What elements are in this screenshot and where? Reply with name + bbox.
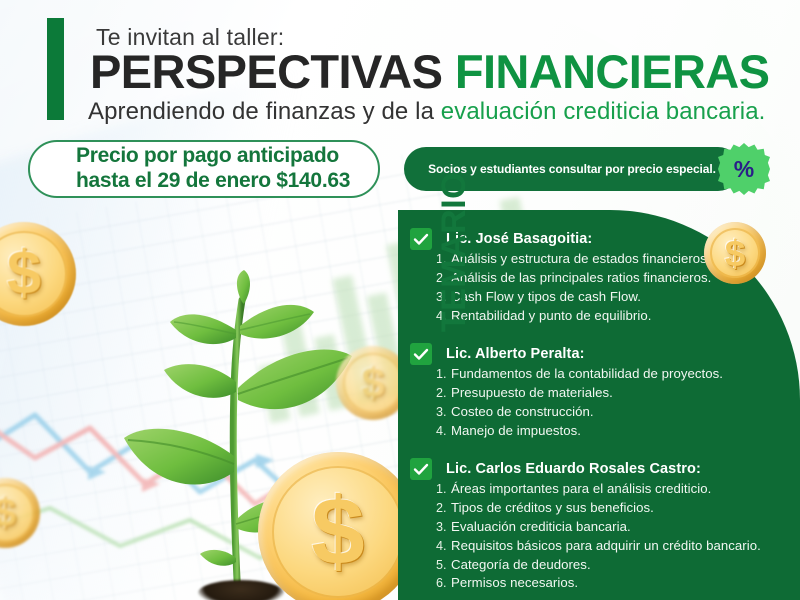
item-text: Fundamentos de la contabilidad de proyec… xyxy=(451,365,723,384)
list-item: 3.Evaluación crediticia bancaria. xyxy=(436,518,761,537)
item-text: Tipos de créditos y sus beneficios. xyxy=(451,499,654,518)
item-text: Evaluación crediticia bancaria. xyxy=(451,518,631,537)
header-accent-bar xyxy=(47,18,64,120)
list-item: 1.Áreas importantes para el análisis cre… xyxy=(436,480,761,499)
coin-dollar-icon: $ xyxy=(361,362,384,404)
item-text: Presupuesto de materiales. xyxy=(451,384,613,403)
item-text: Manejo de impuestos. xyxy=(451,422,581,441)
item-text: Categoría de deudores. xyxy=(451,556,591,575)
agenda-items: 1.Fundamentos de la contabilidad de proy… xyxy=(436,365,723,441)
check-icon xyxy=(410,343,432,365)
subtitle-part-two: evaluación crediticia bancaria. xyxy=(441,98,766,125)
item-text: Permisos necesarios. xyxy=(451,574,578,593)
item-number: 6. xyxy=(436,575,451,593)
item-number: 1. xyxy=(436,366,451,384)
early-price-line-2: hasta el 29 de enero $140.63 xyxy=(76,169,376,194)
coin-dollar-icon: $ xyxy=(0,493,16,533)
coin-dollar-icon: $ xyxy=(725,235,746,272)
early-price-line-1: Precio por pago anticipado xyxy=(76,144,376,169)
item-number: 4. xyxy=(436,423,451,441)
list-item: 1.Análisis y estructura de estados finan… xyxy=(436,250,711,269)
list-item: 5.Categoría de deudores. xyxy=(436,556,761,575)
item-number: 5. xyxy=(436,557,451,575)
item-text: Requisitos básicos para adquirir un créd… xyxy=(451,537,761,556)
list-item: 2.Presupuesto de materiales. xyxy=(436,384,723,403)
coin-large-bottom: $ xyxy=(258,452,418,600)
coin-on-panel: $ xyxy=(704,222,766,284)
agenda-items: 1.Análisis y estructura de estados finan… xyxy=(436,250,711,326)
page-title: PERSPECTIVAS FINANCIERAS xyxy=(90,48,769,95)
speaker-name: Lic. Carlos Eduardo Rosales Castro: xyxy=(446,461,701,477)
discount-badge: % xyxy=(718,143,770,195)
check-icon xyxy=(410,458,432,480)
coin-dollar-icon: $ xyxy=(7,243,41,305)
soil-mound xyxy=(198,580,284,600)
early-price-text: Precio por pago anticipado hasta el 29 d… xyxy=(76,144,376,193)
agenda-items: 1.Áreas importantes para el análisis cre… xyxy=(436,480,761,593)
list-item: 3.Costeo de construcción. xyxy=(436,403,723,422)
title-word-perspectivas: PERSPECTIVAS xyxy=(90,45,442,98)
item-number: 2. xyxy=(436,385,451,403)
list-item: 4.Rentabilidad y punto de equilibrio. xyxy=(436,307,711,326)
coin-dollar-icon: $ xyxy=(311,484,364,580)
item-text: Rentabilidad y punto de equilibrio. xyxy=(451,307,651,326)
list-item: 6.Permisos necesarios. xyxy=(436,574,761,593)
item-number: 3. xyxy=(436,519,451,537)
item-number: 4. xyxy=(436,538,451,556)
page-subtitle: Aprendiendo de finanzas y de la evaluaci… xyxy=(88,98,765,126)
temario-label: TEMARIO xyxy=(435,137,475,367)
item-text: Análisis y estructura de estados financi… xyxy=(451,250,711,269)
list-item: 3.Cash Flow y tipos de cash Flow. xyxy=(436,288,711,307)
list-item: 4.Requisitos básicos para adquirir un cr… xyxy=(436,537,761,556)
item-number: 1. xyxy=(436,481,451,499)
title-word-financieras: FINANCIERAS xyxy=(455,45,770,98)
list-item: 1.Fundamentos de la contabilidad de proy… xyxy=(436,365,723,384)
check-icon xyxy=(410,228,432,250)
percent-icon: % xyxy=(734,156,754,183)
flyer-canvas: $ $ $ $ Te invitan al taller: PERSPECTIV… xyxy=(0,0,800,600)
subtitle-part-one: Aprendiendo de finanzas y de la xyxy=(88,98,434,125)
item-text: Cash Flow y tipos de cash Flow. xyxy=(451,288,641,307)
list-item: 4.Manejo de impuestos. xyxy=(436,422,723,441)
item-text: Análisis de las principales ratios finan… xyxy=(451,269,711,288)
list-item: 2.Análisis de las principales ratios fin… xyxy=(436,269,711,288)
list-item: 2.Tipos de créditos y sus beneficios. xyxy=(436,499,761,518)
item-number: 3. xyxy=(436,404,451,422)
item-text: Costeo de construcción. xyxy=(451,403,594,422)
item-number: 2. xyxy=(436,500,451,518)
item-text: Áreas importantes para el análisis credi… xyxy=(451,480,711,499)
